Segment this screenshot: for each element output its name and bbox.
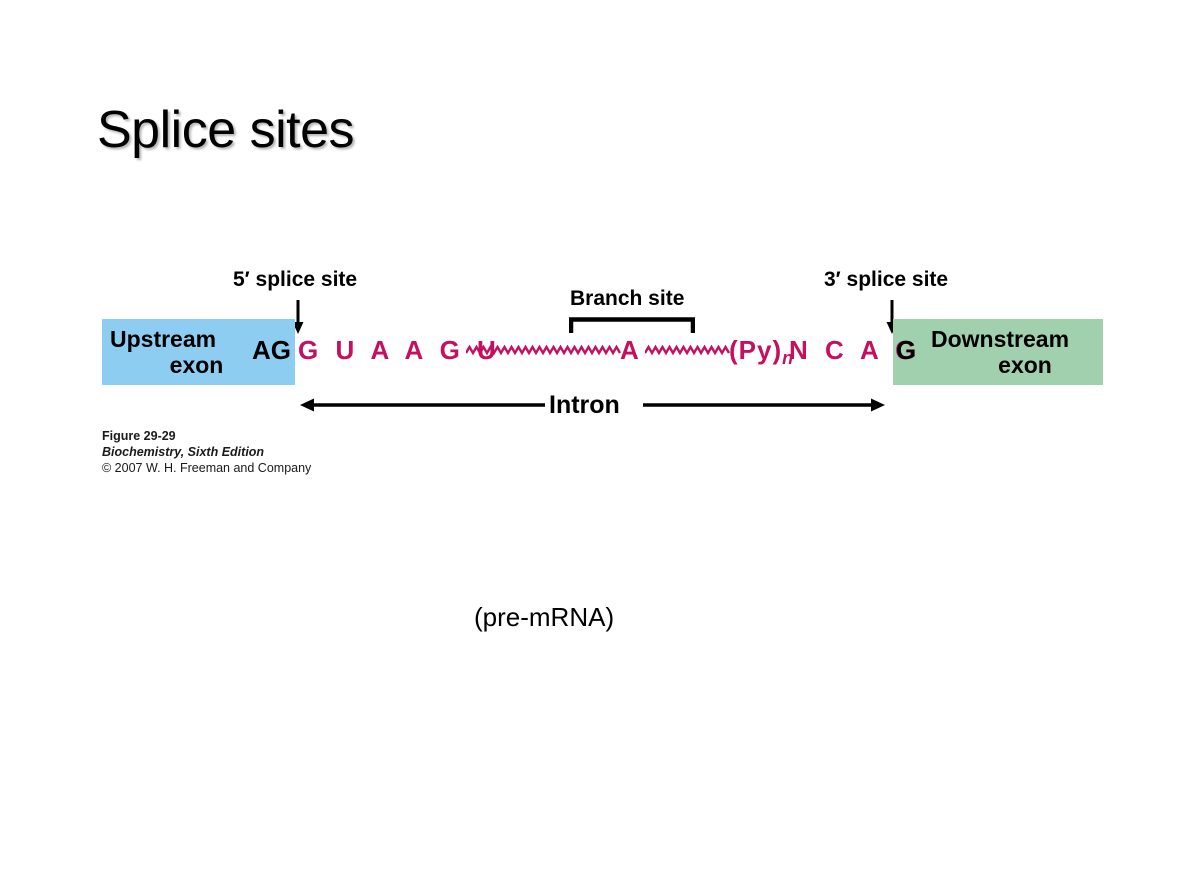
upstream-exon-label-line2: exon (170, 352, 224, 378)
intron-span-arrow-left-icon (300, 395, 545, 415)
branch-site-bracket-icon (569, 317, 695, 333)
intron-span-arrow-right-icon (643, 395, 885, 415)
splice-sites-diagram: 5′ splice site 3′ splice site Branch sit… (0, 0, 1202, 876)
polypyrimidine-base: (Py) (729, 335, 782, 365)
branch-site-label: Branch site (570, 287, 684, 311)
downstream-exon-label-line1: Downstream (931, 326, 1069, 352)
intron-squiggle-left-icon (466, 339, 622, 361)
polypyrimidine-tract: (Py)n (729, 337, 793, 363)
downstream-exon-label: Downstream exon (893, 319, 1103, 385)
three-prime-splice-site-label: 3′ splice site (824, 268, 948, 292)
branch-point-adenine: A (620, 337, 639, 363)
pre-mrna-label: (pre-mRNA) (474, 602, 614, 633)
figure-number: Figure 29-29 (102, 428, 311, 444)
intron-squiggle-right-icon (645, 339, 731, 361)
figure-source-title: Biochemistry, Sixth Edition (102, 444, 311, 460)
downstream-exon-initial-g: G (896, 337, 916, 363)
upstream-exon-label-line1: Upstream (110, 326, 216, 352)
upstream-exon-terminal-ag: AG (252, 337, 291, 363)
figure-caption: Figure 29-29 Biochemistry, Sixth Edition… (102, 428, 311, 476)
figure-copyright: © 2007 W. H. Freeman and Company (102, 460, 311, 476)
downstream-exon-box: Downstream exon (893, 319, 1103, 385)
downstream-exon-label-line2: exon (998, 352, 1052, 378)
intron-label: Intron (549, 391, 620, 420)
five-prime-splice-site-label: 5′ splice site (233, 268, 357, 292)
